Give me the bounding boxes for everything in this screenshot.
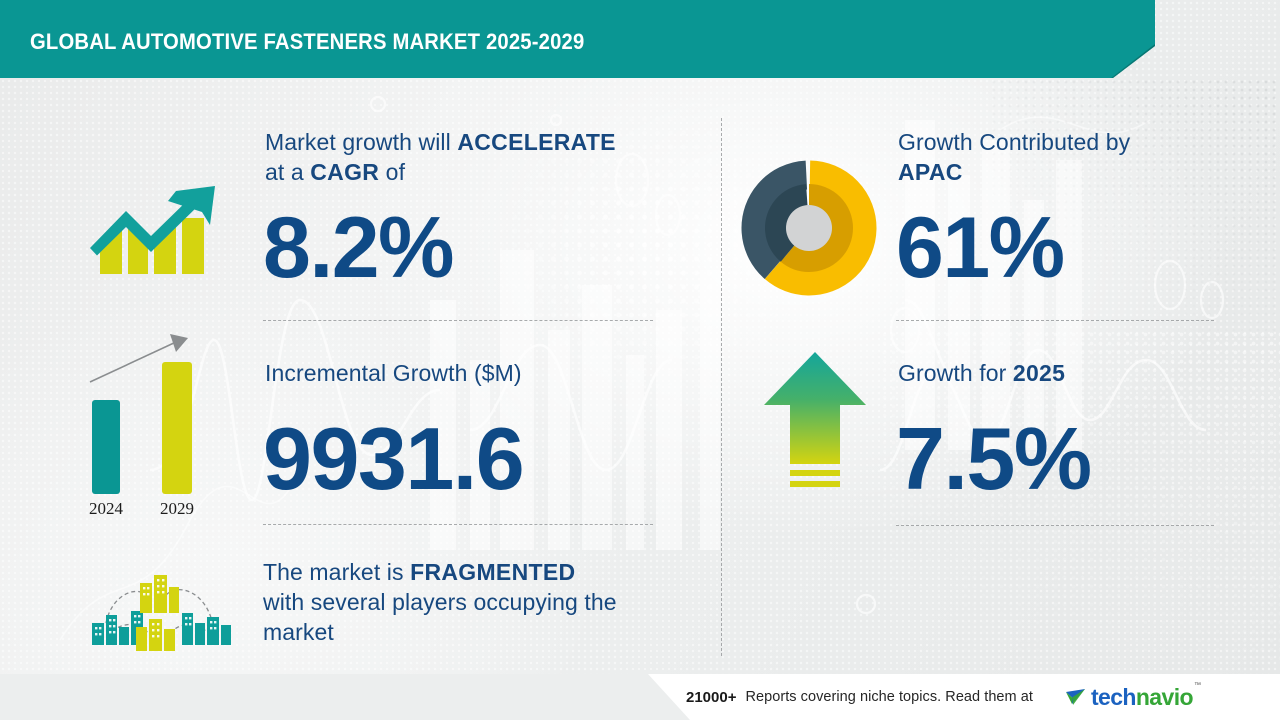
apac-value: 61%	[896, 205, 1064, 291]
divider-right-1	[896, 320, 1214, 321]
logo-trademark: ™	[1194, 682, 1201, 689]
apac-text-part1: Growth Contributed by	[898, 129, 1130, 155]
apac-label: Growth Contributed by APAC	[898, 127, 1228, 187]
technavio-arrow-logo-icon	[1063, 684, 1089, 710]
cagr-text-part2: at a	[265, 159, 310, 185]
incremental-growth-value: 9931.6	[263, 415, 523, 503]
cagr-text-part1: Market growth will	[265, 129, 457, 155]
cagr-value: 8.2%	[263, 205, 453, 291]
fragmented-text-part2: with several players occupying the marke…	[263, 589, 617, 645]
fragmented-keyword: FRAGMENTED	[410, 559, 575, 585]
growth-2025-value: 7.5%	[896, 415, 1091, 503]
bar-label-2024: 2024	[89, 499, 124, 518]
divider-right-2	[896, 525, 1214, 526]
cagr-text-part3: of	[379, 159, 405, 185]
infographic-canvas: GLOBAL AUTOMOTIVE FASTENERS MARKET 2025-…	[0, 0, 1280, 720]
bar-label-2029: 2029	[160, 499, 194, 518]
footer-content: 21000+ Reports covering niche topics. Re…	[686, 674, 1280, 720]
growth-2025-label: Growth for 2025	[898, 358, 1228, 388]
divider-left-1	[263, 320, 653, 321]
incremental-growth-label: Incremental Growth ($M)	[265, 358, 685, 388]
growth-2025-text-part1: Growth for	[898, 360, 1013, 386]
reports-count: 21000+	[686, 689, 736, 706]
donut-chart-icon	[741, 160, 877, 296]
connected-buildings-icon	[78, 565, 243, 655]
divider-left-2	[263, 524, 653, 525]
cagr-label: Market growth will ACCELERATE at a CAGR …	[265, 127, 685, 187]
column-divider	[721, 118, 722, 656]
cagr-keyword: CAGR	[310, 159, 379, 185]
up-arrow-gradient-icon	[760, 348, 870, 508]
cagr-accelerate: ACCELERATE	[457, 129, 615, 155]
footer-tagline: Reports covering niche topics. Read them…	[745, 689, 1032, 705]
footer-left-notch	[0, 674, 690, 720]
technavio-logo[interactable]: technavio™	[1063, 684, 1200, 710]
growth-2025-year: 2025	[1013, 360, 1065, 386]
page-title: GLOBAL AUTOMOTIVE FASTENERS MARKET 2025-…	[30, 29, 584, 55]
apac-keyword: APAC	[898, 159, 963, 185]
two-bar-growth-icon: 2024 2029	[72, 330, 232, 520]
fragmented-label: The market is FRAGMENTED with several pl…	[263, 557, 683, 647]
fragmented-text-part1: The market is	[263, 559, 410, 585]
logo-text-navio: navio	[1136, 686, 1193, 709]
growth-bar-chart-arrow-icon	[72, 148, 232, 298]
logo-text-tech: tech	[1091, 686, 1136, 709]
